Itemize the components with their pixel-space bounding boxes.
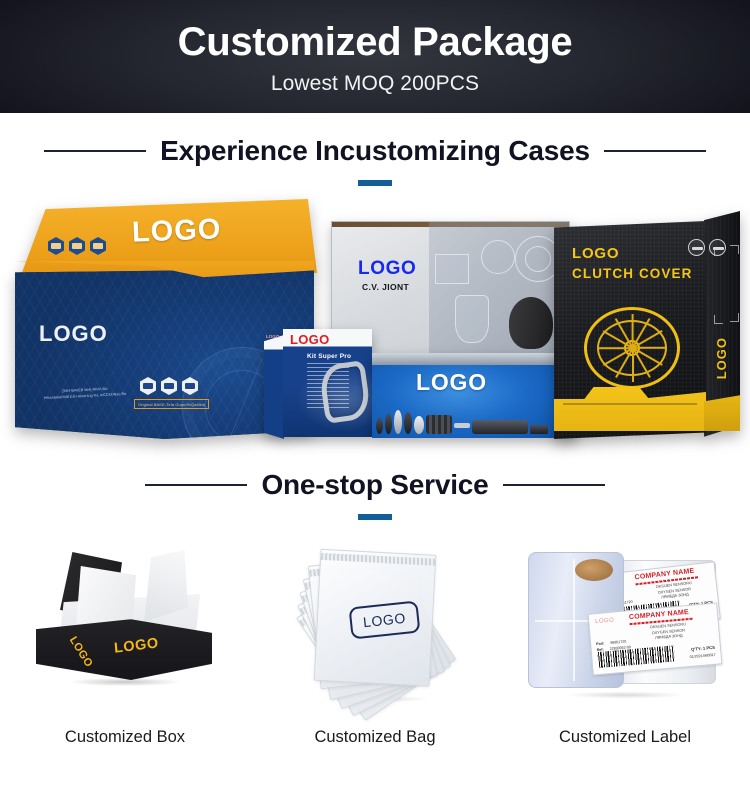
section-heading-cases: Experience Incustomizing Cases — [0, 135, 750, 186]
service-item-box: LOGO LOGO Customized Box — [0, 538, 250, 747]
product-box-long-blue: LOGO — [372, 353, 577, 438]
corner-bracket-icon — [714, 315, 723, 324]
page-subtitle: Lowest MOQ 200PCS — [271, 72, 479, 96]
page-title: Customized Package — [178, 21, 573, 64]
long-box-top-edge — [372, 353, 577, 365]
service-label-bag: Customized Bag — [314, 728, 435, 747]
cv-box-logo: LOGO — [358, 258, 416, 280]
kit-box-spec-lines — [307, 363, 349, 411]
hex-badge-icon — [161, 377, 177, 395]
heading-rule-left — [44, 150, 146, 152]
kit-box-side-face — [264, 335, 284, 439]
clutch-box-side-logo: LOGO — [714, 337, 729, 379]
label-logo: LOGO — [595, 617, 614, 625]
customized-bag-image: LOGO — [260, 538, 490, 716]
hex-badge-icon — [48, 237, 64, 255]
clutch-box-title: CLUTCH COVER — [572, 266, 692, 281]
label-lot: 01/20214M0017 — [690, 653, 716, 659]
corner-bracket-icon — [714, 247, 723, 256]
carton-front-logo: LOGO — [39, 321, 108, 347]
heading-rule-right — [604, 150, 706, 152]
cv-box-subtitle: C.V. JIONT — [362, 282, 409, 292]
heading-accent-bar — [358, 514, 392, 520]
hex-gear-icon — [182, 377, 198, 395]
page-banner: Customized Package Lowest MOQ 200PCS — [0, 0, 750, 113]
section-title-service: One-stop Service — [261, 469, 488, 501]
label-qty: Q'TY: 1 PCS — [691, 645, 715, 652]
corner-bracket-icon — [730, 245, 739, 254]
hex-gear-icon — [90, 237, 106, 255]
heading-rule-right — [503, 484, 605, 486]
service-item-bag: LOGO Customized Bag — [250, 538, 500, 747]
kit-box-side-logo: LOGO — [266, 334, 279, 339]
customized-label-image: LOGO COMPANY NAME OKSIJEN SENSORU OXYGEN… — [510, 538, 740, 716]
label-field1-label: Part: — [596, 641, 605, 646]
cv-joint-artwork — [429, 222, 569, 357]
section-heading-service: One-stop Service — [0, 469, 750, 520]
service-label-box: Customized Box — [65, 728, 185, 747]
clutch-disc-artwork — [584, 307, 680, 389]
product-box-kit-super-pro: Kit Super Pro LOGO LOGO — [264, 329, 372, 439]
hex-badge-icon — [69, 237, 85, 255]
service-label-label: Customized Label — [559, 728, 691, 747]
carton-top-badges — [48, 237, 106, 255]
heading-accent-bar — [358, 180, 392, 186]
label-field1-value: 96951720 — [610, 640, 626, 645]
cases-collage: LOGO LOGO Zİ6H WA/ER İkH( Mİr/A BU H%Urb… — [0, 189, 750, 457]
suspension-parts-artwork — [376, 404, 572, 434]
carton-front-badges — [140, 377, 198, 395]
customized-box-image: LOGO LOGO — [10, 538, 240, 716]
service-item-label: LOGO COMPANY NAME OKSIJEN SENSORU OXYGEN… — [500, 538, 750, 747]
clutch-box-logo: LOGO — [572, 245, 619, 262]
carton-quality-strip: Original BAKE-Tela Gupn/HrQatlikirj — [134, 399, 209, 409]
heading-rule-left — [145, 484, 247, 486]
printed-label-lower: LOGO COMPANY NAME OKSIJEN SENSORU OXYGEN… — [588, 602, 723, 675]
brake-shoe-icon — [318, 360, 372, 424]
corner-bracket-icon — [730, 313, 739, 322]
kit-box-title: Kit Super Pro — [307, 353, 351, 360]
long-box-logo: LOGO — [416, 369, 487, 396]
product-box-clutch-cover: LOGO CLUTCH COVER LOGO — [554, 211, 740, 439]
service-row: LOGO LOGO Customized Box LOGO Customized… — [0, 538, 750, 747]
hex-badge-icon — [140, 377, 156, 395]
section-title-cases: Experience Incustomizing Cases — [160, 135, 590, 167]
carton-top-logo: LOGO — [131, 213, 222, 249]
kit-box-logo: LOGO — [290, 332, 329, 347]
